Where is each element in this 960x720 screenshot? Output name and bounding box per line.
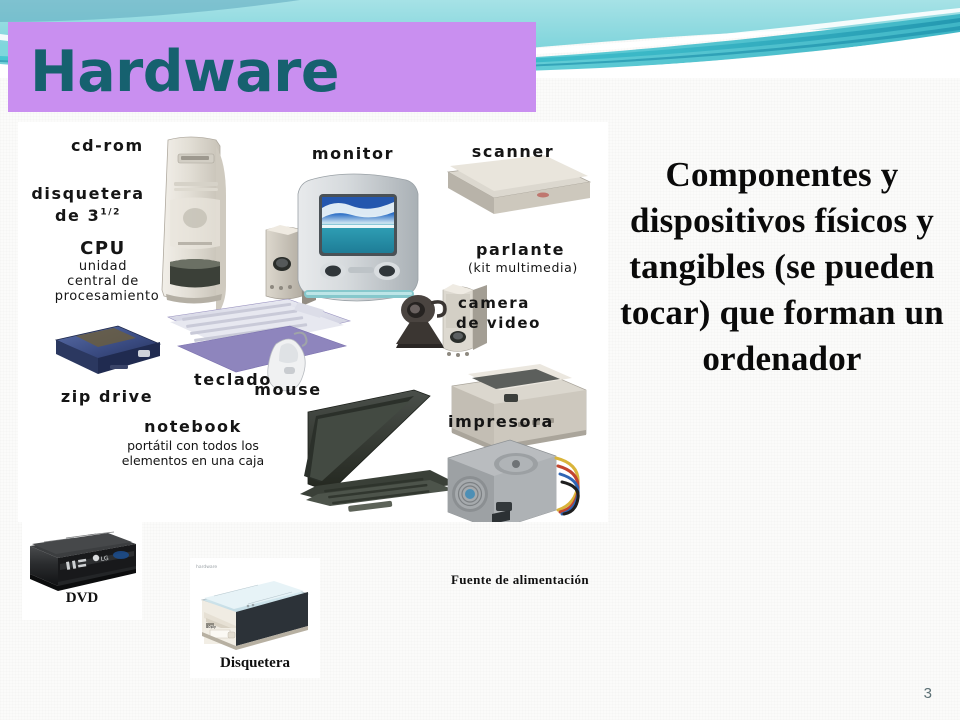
label-cd-rom: cd-rom xyxy=(71,136,144,155)
svg-text:80ply: 80ply xyxy=(206,625,217,629)
label-disquetera-size: de 31/2 xyxy=(18,206,158,225)
label-cpu: CPU xyxy=(28,238,178,259)
label-notebook: notebook xyxy=(128,417,258,436)
label-de3-text: de 3 xyxy=(55,206,100,225)
label-parlante: parlante xyxy=(476,240,606,259)
label-camera-line2: de video xyxy=(456,314,596,332)
label-cpu-line3: procesamiento xyxy=(18,289,196,304)
title-banner-box: Hardware xyxy=(8,22,536,112)
disquetera-caption: Disquetera xyxy=(180,655,330,672)
hardware-collage-image: cd-rom disquetera de 31/2 CPU unidad cen… xyxy=(18,122,608,522)
label-notebook-line2: elementos en una caja xyxy=(98,453,288,468)
page-number: 3 xyxy=(924,685,932,702)
label-monitor: monitor xyxy=(298,144,408,163)
power-supply-caption: Fuente de alimentación xyxy=(420,572,620,588)
svg-text:LG: LG xyxy=(100,555,109,563)
label-notebook-line1: portátil con todos los xyxy=(98,438,288,453)
label-impresora: impresora xyxy=(448,412,588,431)
label-parlante-sub: (kit multimedia) xyxy=(468,260,608,275)
label-scanner: scanner xyxy=(458,142,568,161)
svg-text:hardware: hardware xyxy=(196,564,217,570)
monitor-device xyxy=(298,174,418,301)
dvd-caption: DVD xyxy=(22,590,142,607)
page-title: Hardware xyxy=(30,42,339,102)
label-zip-drive: zip drive xyxy=(32,387,182,406)
label-de3-superscript: 1/2 xyxy=(100,208,121,218)
slide: Hardware xyxy=(0,0,960,720)
label-cpu-line1: unidad xyxy=(28,259,178,274)
label-cpu-line2: central de xyxy=(18,274,188,289)
label-mouse: mouse xyxy=(228,380,348,399)
label-disquetera: disquetera xyxy=(18,184,158,203)
body-paragraph: Componentes y dispositivos físicos y tan… xyxy=(612,152,952,382)
label-camera-line1: camera xyxy=(458,294,588,312)
